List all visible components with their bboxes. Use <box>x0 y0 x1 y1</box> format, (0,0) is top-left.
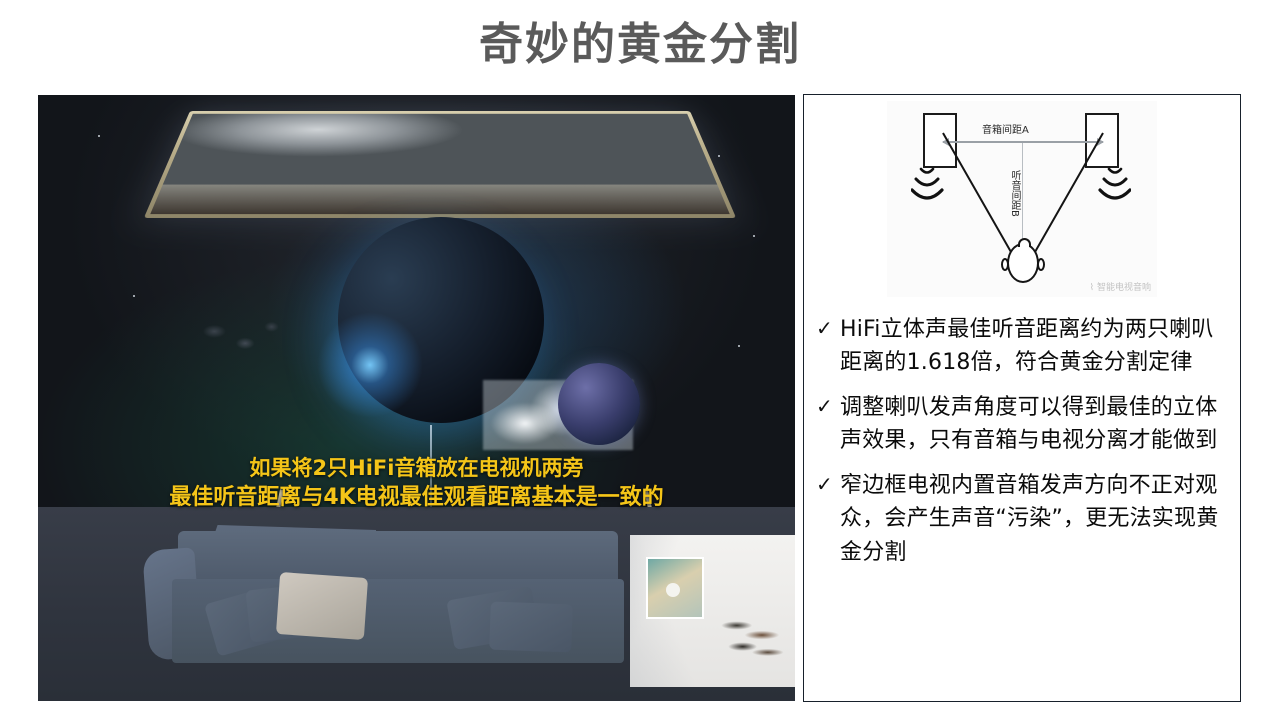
rocks-decoration <box>188 313 298 359</box>
check-icon: ✓ <box>816 469 840 569</box>
diagram-watermark: ⌇智能电视音响 <box>1090 280 1151 293</box>
listener-head-icon <box>1007 243 1039 283</box>
sofa-backrest <box>178 531 618 583</box>
sound-wave-right-icon <box>1087 159 1131 203</box>
bullet-list: ✓ HiFi立体声最佳听音距离约为两只喇叭距离的1.618倍，符合黄金分割定律 … <box>816 313 1226 569</box>
check-icon: ✓ <box>816 391 840 458</box>
left-photo: 如果将2只HiFi音箱放在电视机两旁 最佳听音距离与4K电视最佳观看距离基本是一… <box>38 95 795 701</box>
speaker-placement-diagram: 音箱间距A 听音间距B ⌇智能电视音响 <box>887 101 1157 297</box>
vases-decoration <box>716 613 790 661</box>
listener-ear-right <box>1037 258 1045 271</box>
page-title: 奇妙的黄金分割 <box>0 8 1280 72</box>
artwork-icon <box>646 557 704 619</box>
tv-frame <box>144 111 736 218</box>
tv-screen <box>150 114 730 214</box>
list-item: ✓ 调整喇叭发声角度可以得到最佳的立体声效果，只有音箱与电视分离才能做到 <box>816 391 1226 458</box>
watermark-logo-icon: ⌇ <box>1090 283 1094 293</box>
photo-caption-line-2: 最佳听音距离与4K电视最佳观看距离基本是一致的 <box>38 483 795 512</box>
sound-wave-left-icon <box>911 159 955 203</box>
sofa-illustration <box>138 531 658 681</box>
planet-glow-icon <box>310 305 430 425</box>
listener-hair <box>1018 238 1031 247</box>
photo-bottom-scene <box>38 507 795 701</box>
slide-root: 奇妙的黄金分割 <box>0 0 1280 720</box>
list-item: ✓ HiFi立体声最佳听音距离约为两只喇叭距离的1.618倍，符合黄金分割定律 <box>816 313 1226 380</box>
check-icon: ✓ <box>816 313 840 380</box>
watermark-text: 智能电视音响 <box>1097 283 1151 293</box>
right-panel: 音箱间距A 听音间距B ⌇智能电视音响 <box>803 94 1241 702</box>
list-item-text: 窄边框电视内置音箱发声方向不正对观众，会产生声音“污染”，更无法实现黄金分割 <box>840 469 1226 569</box>
listener-ear-left <box>1001 258 1009 271</box>
photo-top-scene <box>38 95 795 507</box>
list-item-text: HiFi立体声最佳听音距离约为两只喇叭距离的1.618倍，符合黄金分割定律 <box>840 313 1226 380</box>
list-item: ✓ 窄边框电视内置音箱发声方向不正对观众，会产生声音“污染”，更无法实现黄金分割 <box>816 469 1226 569</box>
pillow <box>276 572 368 640</box>
planet-small-icon <box>558 363 640 445</box>
tv-device-icon <box>144 111 736 218</box>
pillow <box>489 602 573 653</box>
photo-caption-line-1: 如果将2只HiFi音箱放在电视机两旁 <box>38 455 795 483</box>
list-item-text: 调整喇叭发声角度可以得到最佳的立体声效果，只有音箱与电视分离才能做到 <box>840 391 1226 458</box>
marble-table <box>630 535 795 687</box>
photo-caption: 如果将2只HiFi音箱放在电视机两旁 最佳听音距离与4K电视最佳观看距离基本是一… <box>38 455 795 512</box>
